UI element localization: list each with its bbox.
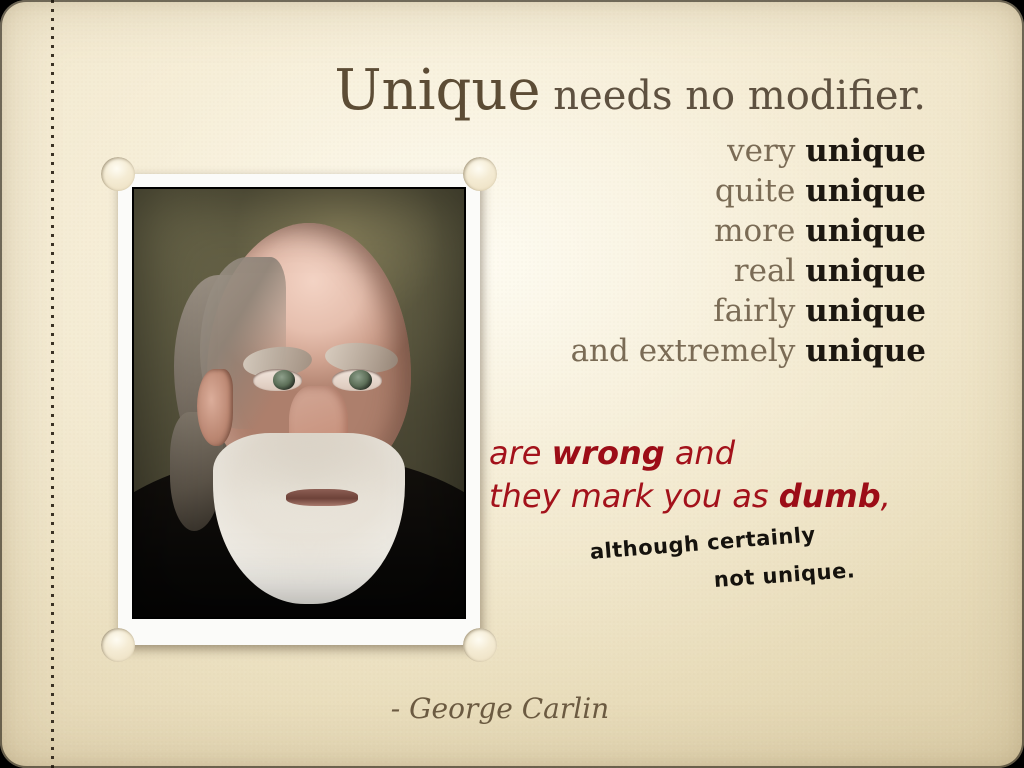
modifier-list: very unique quite unique more unique rea… <box>430 132 926 372</box>
modifier-row: quite unique <box>430 172 926 212</box>
modifier-row: real unique <box>430 252 926 292</box>
frame-notch-top-left <box>101 157 135 191</box>
modifier-adverb: more <box>714 213 805 249</box>
handwritten-note: although certainly not unique. <box>590 540 930 593</box>
modifier-noun: unique <box>805 253 926 289</box>
statement-emphasis-dumb: dumb <box>779 477 881 515</box>
modifier-noun: unique <box>805 173 926 209</box>
modifier-row: more unique <box>430 212 926 252</box>
perforation-dotted-line <box>51 0 54 768</box>
statement-line-2: they mark you as dumb, <box>489 475 959 518</box>
modifier-adverb: very <box>727 133 805 169</box>
attribution: - George Carlin <box>290 692 710 725</box>
frame-notch-bottom-right <box>463 628 497 662</box>
statement-line-1: are wrong and <box>489 432 959 475</box>
quote-slide: Unique needs no modifier. very unique qu… <box>0 0 1024 768</box>
statement-text: are wrong and they mark you as dumb, <box>489 432 959 518</box>
photo-frame <box>118 174 480 645</box>
headline: Unique needs no modifier. <box>200 62 926 120</box>
modifier-noun: unique <box>805 333 926 369</box>
modifier-adverb: and extremely <box>571 333 806 369</box>
statement-line1-part-a: are <box>489 434 552 472</box>
modifier-noun: unique <box>805 293 926 329</box>
headline-rest: needs no modifier. <box>541 73 926 119</box>
portrait-vignette <box>134 189 464 617</box>
statement-emphasis-wrong: wrong <box>552 434 665 472</box>
modifier-noun: unique <box>805 213 926 249</box>
modifier-row: and extremely unique <box>430 332 926 372</box>
modifier-adverb: quite <box>715 173 805 209</box>
portrait-image-george-carlin <box>134 189 464 617</box>
modifier-adverb: real <box>734 253 805 289</box>
headline-emphasis: Unique <box>334 58 540 123</box>
modifier-row: fairly unique <box>430 292 926 332</box>
statement-line1-part-c: and <box>665 434 735 472</box>
modifier-row: very unique <box>430 132 926 172</box>
note-line-2: not unique. <box>713 553 930 594</box>
photo-border <box>132 187 466 619</box>
modifier-noun: unique <box>805 133 926 169</box>
frame-notch-bottom-left <box>101 628 135 662</box>
statement-line2-part-a: they mark you as <box>489 477 779 515</box>
statement-line2-part-c: , <box>881 477 891 515</box>
modifier-adverb: fairly <box>713 293 805 329</box>
